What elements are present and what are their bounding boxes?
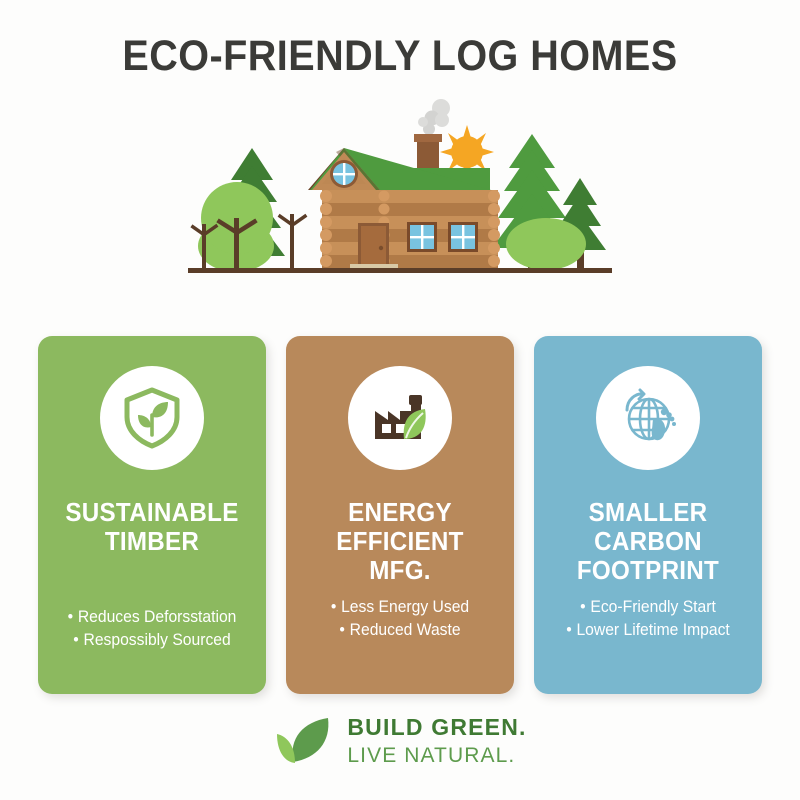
list-item: •Lower Lifetime Impact — [547, 619, 748, 642]
bullet-dot: • — [68, 608, 73, 626]
card-title: ENERGY EFFICIENT MFG. — [294, 498, 506, 585]
bullet-text: Reduces Deforsstation — [78, 608, 237, 626]
bullet-text: Respossibly Sourced — [83, 631, 230, 649]
bullet-text: Eco-Friendly Start — [590, 598, 715, 616]
card-bullets: •Reduces Deforsstation •Respossibly Sour… — [38, 606, 266, 652]
factory-leaf-icon — [348, 366, 452, 470]
footer-logo: BUILD GREEN. LIVE NATURAL. — [0, 716, 800, 766]
footer-line-build-green: BUILD GREEN. — [347, 716, 526, 739]
footer-text: BUILD GREEN. LIVE NATURAL. — [347, 716, 526, 766]
feature-cards: SUSTAINABLE TIMBER •Reduces Deforsstatio… — [38, 336, 762, 694]
bullet-text: Lower Lifetime Impact — [576, 621, 729, 639]
two-leaves-icon — [273, 716, 335, 766]
list-item: •Reduces Deforsstation — [51, 606, 252, 629]
globe-footprint-icon — [596, 366, 700, 470]
round-window — [330, 160, 358, 188]
card-sustainable-timber[interactable]: SUSTAINABLE TIMBER •Reduces Deforsstatio… — [38, 336, 266, 694]
list-item: •Eco-Friendly Start — [547, 596, 748, 619]
bullet-dot: • — [331, 598, 336, 616]
footprint — [652, 409, 676, 440]
bullet-dot: • — [339, 621, 344, 639]
log-cabin-illustration — [180, 96, 620, 288]
bullet-dot: • — [73, 631, 78, 649]
bullet-text: Reduced Waste — [350, 621, 461, 639]
infographic-poster: ECO-FRIENDLY LOG HOMES — [0, 0, 800, 800]
card-bullets: •Eco-Friendly Start •Lower Lifetime Impa… — [534, 596, 762, 642]
card-title: SUSTAINABLE TIMBER — [46, 498, 258, 556]
list-item: •Less Energy Used — [299, 596, 500, 619]
bullet-dot: • — [580, 598, 585, 616]
bullet-text: Less Energy Used — [341, 598, 469, 616]
cabin-window-left — [407, 222, 437, 252]
ground-line — [188, 268, 612, 273]
card-bullets: •Less Energy Used •Reduced Waste — [286, 596, 514, 642]
card-title: SMALLER CARBON FOOTPRINT — [542, 498, 754, 585]
shield-leaf-icon — [100, 366, 204, 470]
card-energy-efficient-mfg[interactable]: ENERGY EFFICIENT MFG. •Less Energy Used … — [286, 336, 514, 694]
list-item: •Reduced Waste — [299, 619, 500, 642]
card-smaller-carbon-footprint[interactable]: SMALLER CARBON FOOTPRINT •Eco-Friendly S… — [534, 336, 762, 694]
page-title: ECO-FRIENDLY LOG HOMES — [32, 30, 768, 82]
bullet-dot: • — [566, 621, 571, 639]
footer-line-live-natural: LIVE NATURAL. — [347, 745, 526, 766]
smoke-icon — [418, 99, 450, 135]
cabin-window-right — [448, 222, 478, 252]
list-item: •Respossibly Sourced — [51, 629, 252, 652]
